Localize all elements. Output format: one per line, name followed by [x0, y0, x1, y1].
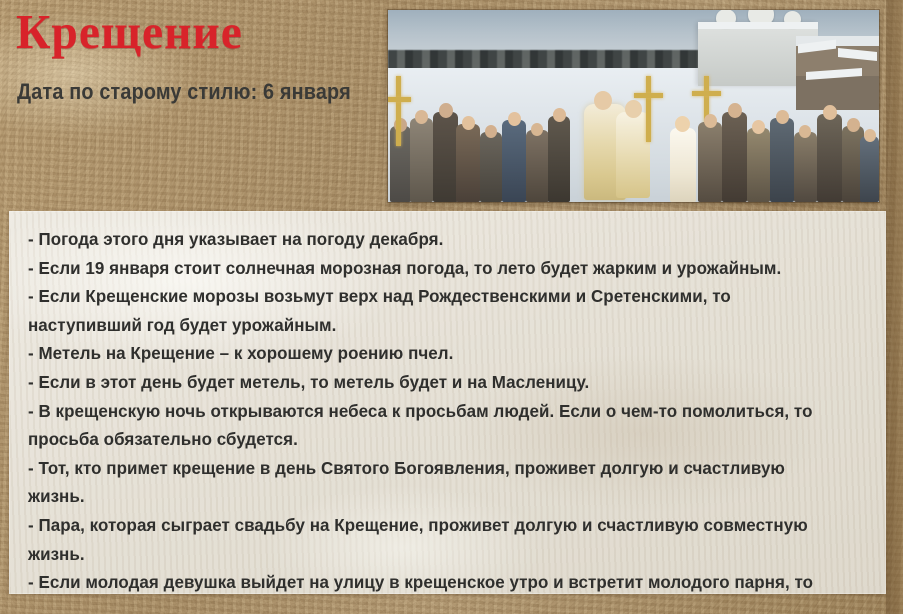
crowd-figure-head — [847, 118, 860, 132]
list-item: - Тот, кто примет крещение в день Святог… — [28, 454, 842, 511]
omens-panel: - Погода этого дня указывает на погоду д… — [9, 211, 886, 594]
page-title: Крещение — [16, 7, 243, 56]
processional-cross-icon — [634, 93, 663, 98]
painting-crowd — [388, 98, 879, 202]
crowd-figure — [794, 132, 817, 202]
list-item: - Если молодая девушка выйдет на улицу в… — [28, 568, 842, 594]
crowd-figure — [747, 128, 770, 202]
altar-boy-figure — [670, 128, 696, 202]
crowd-figure — [548, 116, 570, 202]
crowd-figure-head — [415, 110, 428, 124]
crowd-figure — [433, 112, 458, 202]
altar-boy-head — [675, 116, 690, 132]
crowd-figure-head — [508, 112, 521, 126]
list-item: - В крещенскую ночь открываются небеса к… — [28, 397, 842, 454]
processional-cross-icon — [692, 91, 721, 96]
priest-head — [625, 100, 642, 118]
processional-cross-icon — [396, 76, 401, 146]
crowd-figure — [817, 114, 842, 202]
crowd-figure — [722, 112, 747, 202]
crowd-figure-head — [776, 110, 789, 124]
crowd-figure-head — [485, 125, 497, 138]
crowd-figure — [698, 122, 722, 202]
crowd-figure — [860, 136, 879, 202]
crowd-figure-head — [704, 114, 717, 128]
processional-cross-icon — [388, 97, 411, 102]
crowd-figure-head — [728, 103, 742, 118]
crowd-figure — [456, 124, 480, 202]
house-roof — [798, 40, 836, 54]
crowd-figure-head — [752, 120, 765, 134]
crowd-figure-head — [439, 103, 453, 118]
slide-root: Крещение Дата по старому стилю: 6 января — [0, 0, 903, 614]
crowd-figure — [526, 130, 549, 202]
list-item: - Метель на Крещение – к хорошему роению… — [28, 339, 842, 368]
crowd-figure-head — [531, 123, 543, 136]
list-item: - Если в этот день будет метель, то мете… — [28, 368, 842, 397]
list-item: - Если Крещенские морозы возьмут верх на… — [28, 282, 842, 339]
list-item: - Погода этого дня указывает на погоду д… — [28, 225, 842, 254]
crowd-figure-head — [553, 108, 566, 122]
crowd-figure-head — [823, 105, 837, 120]
church-roof — [698, 22, 818, 29]
house-roof — [838, 48, 877, 61]
crowd-figure-head — [799, 125, 811, 138]
processional-cross-icon — [646, 76, 651, 142]
right-border-strip — [886, 0, 903, 614]
crowd-figure — [410, 118, 433, 202]
omens-list: - Погода этого дня указывает на погоду д… — [28, 225, 872, 594]
crowd-figure-head — [462, 116, 475, 130]
crowd-figure — [480, 132, 502, 202]
list-item: - Пара, которая сыграет свадьбу на Креще… — [28, 511, 842, 568]
epiphany-procession-painting — [388, 10, 879, 202]
priest-figure — [616, 112, 650, 198]
list-item: - Если 19 января стоит солнечная морозна… — [28, 254, 842, 283]
priest-head — [594, 91, 612, 110]
old-style-date-subtitle: Дата по старому стилю: 6 января — [17, 81, 351, 103]
crowd-figure — [770, 118, 794, 202]
crowd-figure-head — [864, 129, 876, 142]
house-roof — [806, 68, 862, 80]
crowd-figure — [502, 120, 526, 202]
